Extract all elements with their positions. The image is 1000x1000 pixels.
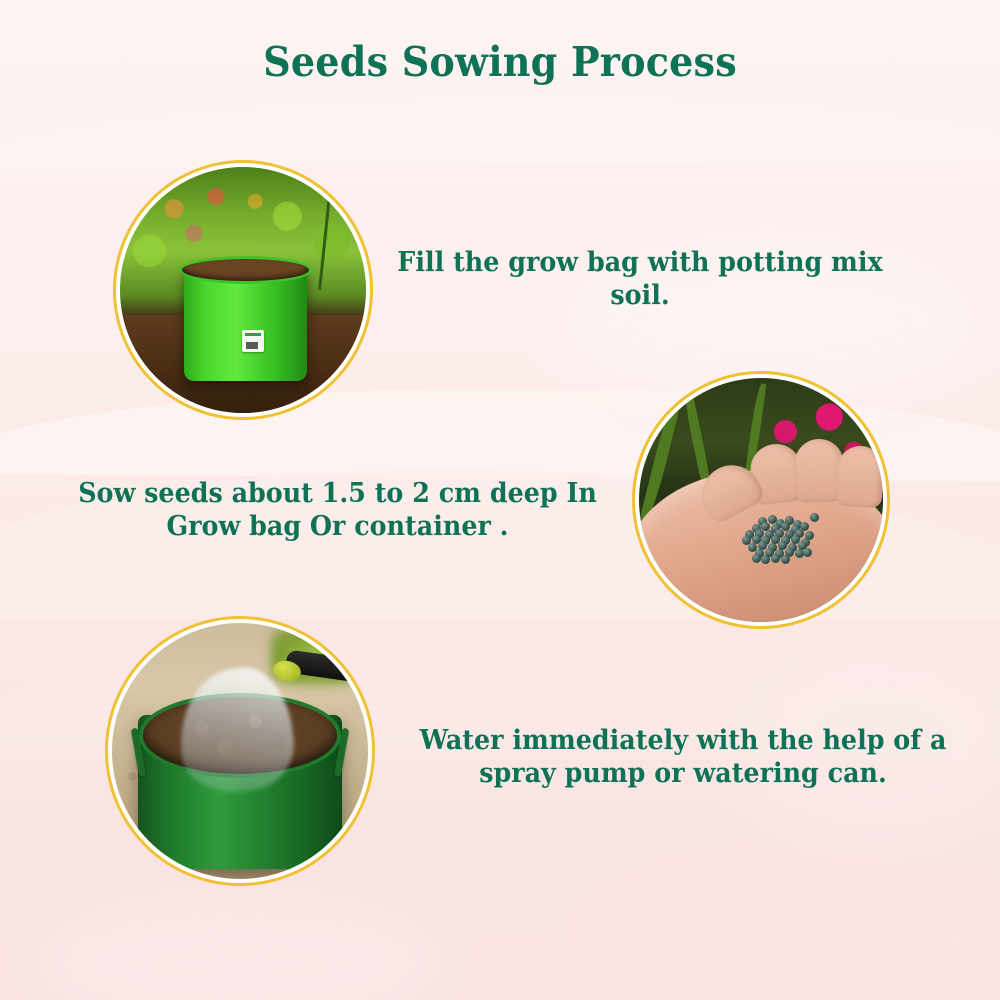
hand-holding-dark-seeds-photo [639,378,883,622]
finger-3 [835,445,883,508]
seed-pile [737,512,820,575]
seed [803,548,812,557]
step-1-image-circle [113,160,373,420]
plant-stem-decor [318,177,333,290]
step-3-image-circle [105,616,375,886]
grow-bag-label-tag [242,330,264,352]
watering-grow-bag-with-watering-can-photo [112,623,368,879]
seed [771,554,780,563]
green-grow-bag-filled-with-potting-soil-photo [120,167,366,413]
page-title: Seeds Sowing Process [35,38,965,86]
seed [810,513,819,522]
seed [781,555,790,564]
grow-bag-body [184,265,307,381]
step-1-caption: Fill the grow bag with potting mix soil. [377,247,903,313]
seed [752,554,761,563]
step-3-caption: Water immediately with the help of a spr… [415,725,951,791]
step-2-caption: Sow seeds about 1.5 to 2 cm deep In Grow… [72,478,603,544]
seed [761,555,770,564]
step-2-image-circle [632,371,890,629]
